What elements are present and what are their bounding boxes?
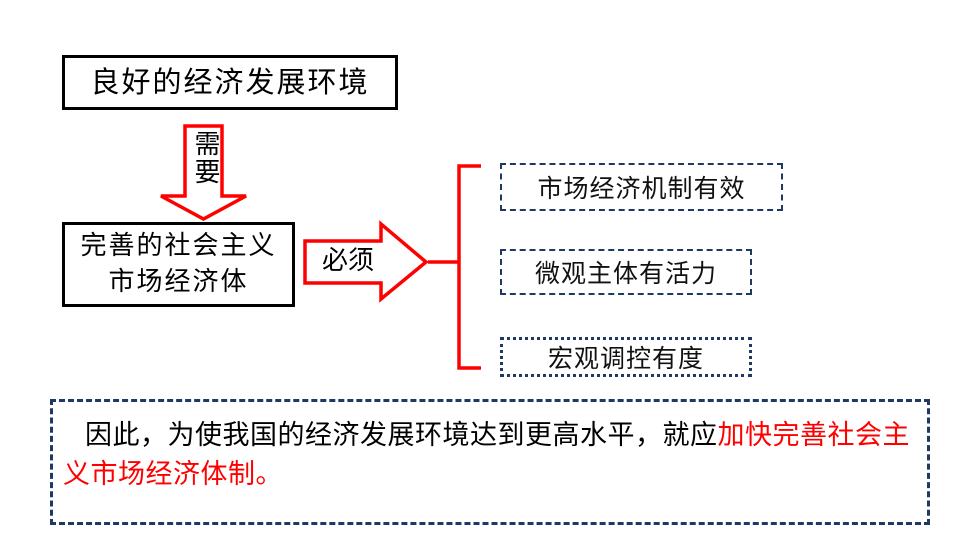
red-bracket-icon <box>459 166 481 368</box>
box-requirement-micro-entities-label: 微观主体有活力 <box>535 254 717 290</box>
box-requirement-micro-entities: 微观主体有活力 <box>500 249 752 295</box>
right-arrow-label: 必须 <box>311 248 385 274</box>
conclusion-black-text: 因此，为使我国的经济发展环境达到更高水平，就应 <box>85 420 718 451</box>
box-socialist-market-economy-system: 完善的社会主义市场经济体 <box>62 222 295 307</box>
box-requirement-macro-regulation-label: 宏观调控有度 <box>548 339 704 375</box>
conclusion-box: 因此，为使我国的经济发展环境达到更高水平，就应加快完善社会主义市场经济体制。 <box>50 399 930 525</box>
down-arrow-label: 需要 <box>188 130 218 186</box>
box-economic-environment: 良好的经济发展环境 <box>62 55 398 110</box>
box-socialist-market-economy-system-label: 完善的社会主义市场经济体 <box>71 229 286 299</box>
box-economic-environment-label: 良好的经济发展环境 <box>90 67 369 99</box>
box-requirement-market-mechanism: 市场经济机制有效 <box>500 163 783 211</box>
box-requirement-macro-regulation: 宏观调控有度 <box>500 337 752 377</box>
box-requirement-market-mechanism-label: 市场经济机制有效 <box>537 169 745 205</box>
diagram-canvas: 良好的经济发展环境 完善的社会主义市场经济体 市场经济机制有效 微观主体有活力 … <box>0 0 960 540</box>
